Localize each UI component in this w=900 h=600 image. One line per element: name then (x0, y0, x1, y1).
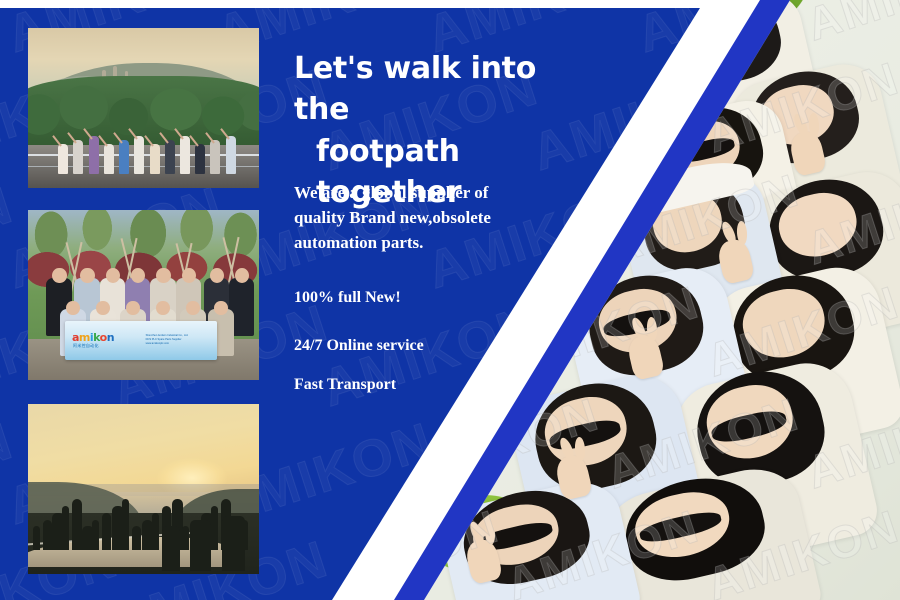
person-head (156, 268, 170, 283)
watermark-text: AMIKON (0, 175, 21, 301)
person-silhouette (72, 499, 81, 550)
person-silhouette (152, 513, 159, 550)
person-figure (195, 144, 205, 174)
person-silhouette (211, 506, 218, 550)
person-figure (165, 140, 175, 174)
person-silhouette (132, 526, 141, 550)
person-silhouette (92, 520, 99, 551)
person-silhouette (62, 506, 69, 550)
person-head (210, 268, 224, 283)
person-silhouette-foreground (190, 520, 211, 571)
person-figure (210, 140, 220, 174)
person-figure (104, 144, 114, 174)
feature-item-3: Fast Transport (294, 376, 544, 394)
person-head (52, 268, 66, 283)
person-figure (89, 136, 99, 174)
feature-item-1: 100% full New! (294, 289, 544, 307)
person-silhouette (182, 526, 189, 550)
watermark-text: AMIKON (0, 8, 21, 65)
person-silhouette-foreground (222, 516, 245, 570)
person-figure (180, 136, 190, 174)
feature-item-2: 24/7 Online service (294, 337, 544, 355)
person-figure (134, 136, 144, 174)
person-head (106, 268, 120, 283)
person-head (80, 268, 94, 283)
person-figure (150, 144, 160, 174)
thumbnail-photo-1 (28, 28, 259, 188)
thumbnail-photo-2: amikon阿米控自动化Shenzhen Amikon Industrial C… (28, 210, 259, 380)
person-silhouette (122, 499, 129, 550)
person-figure (119, 140, 129, 174)
person-silhouette-foreground (162, 526, 180, 570)
person-figure (73, 140, 83, 174)
amikon-logo: amikon (65, 332, 137, 343)
amikon-banner: amikon阿米控自动化Shenzhen Amikon Industrial C… (65, 321, 217, 360)
headline-line-1: Let's walk into the (294, 51, 536, 127)
subtitle-text: We are a global supplier of quality Bran… (294, 180, 534, 255)
person-figure (58, 144, 68, 174)
watermark-text: AMIKON (315, 293, 546, 419)
thumbnail-photo-3 (28, 404, 259, 574)
person-silhouette (102, 513, 111, 550)
person-silhouette (33, 526, 40, 550)
promo-banner: AMIKONAMIKONAMIKONAMIKONAMIKONAMIKONAMIK… (0, 0, 900, 600)
watermark-text: AMIKON (0, 411, 21, 537)
banner-company-lines: Shenzhen Amikon Industrial Co., Ltd.DCS … (137, 334, 189, 346)
person-silhouette (43, 520, 52, 551)
person-figure (226, 136, 236, 174)
